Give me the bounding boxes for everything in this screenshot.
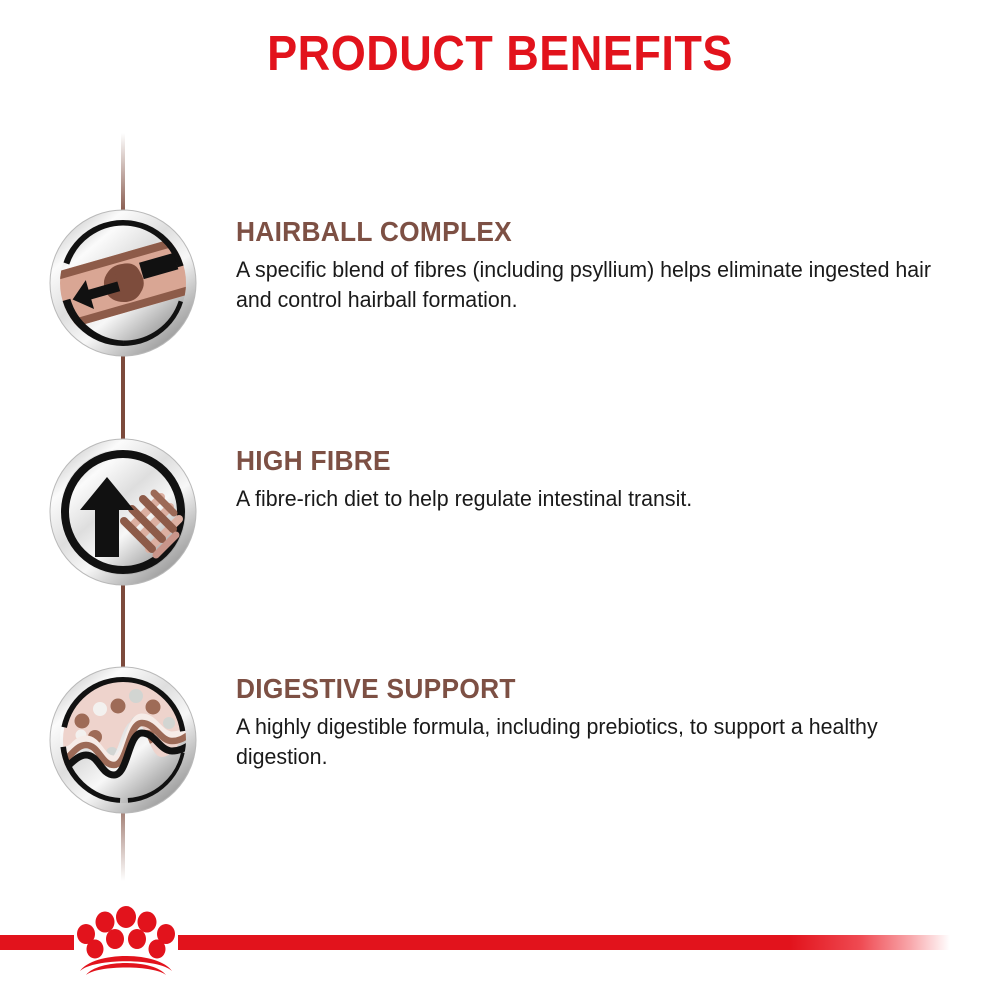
benefit-description: A specific blend of fibres (including ps… (236, 255, 939, 315)
benefit-description: A fibre-rich diet to help regulate intes… (236, 484, 939, 514)
hairball-intestine-icon (48, 208, 198, 358)
benefit-text-digestive-support: DIGESTIVE SUPPORT A highly digestible fo… (236, 673, 976, 772)
benefit-text-high-fibre: HIGH FIBRE A fibre-rich diet to help reg… (236, 445, 976, 514)
benefit-title: HIGH FIBRE (236, 445, 932, 477)
royal-canin-crown-logo (70, 903, 182, 975)
benefit-text-hairball-complex: HAIRBALL COMPLEX A specific blend of fib… (236, 216, 976, 315)
product-benefits-page: PRODUCT BENEFITS (0, 0, 1000, 1000)
benefit-title: DIGESTIVE SUPPORT (236, 673, 932, 705)
benefit-title: HAIRBALL COMPLEX (236, 216, 932, 248)
digestive-wave-icon (48, 665, 198, 815)
fibre-mesh-arrow-icon (48, 437, 198, 587)
page-title: PRODUCT BENEFITS (40, 26, 960, 82)
benefit-description: A highly digestible formula, including p… (236, 712, 939, 772)
